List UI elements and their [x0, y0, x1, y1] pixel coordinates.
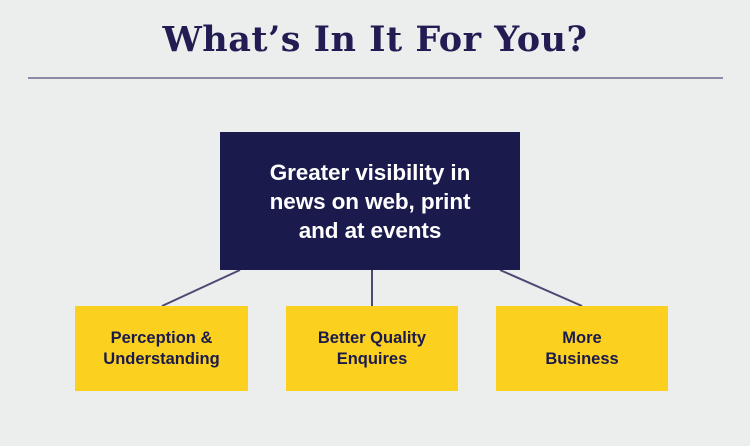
leaf-node-line-1: Perception & — [111, 329, 213, 347]
connector-line-left — [162, 270, 240, 306]
root-node: Greater visibility in news on web, print… — [220, 132, 520, 270]
leaf-node-label: More Business — [504, 328, 660, 370]
leaf-node-line-2: Business — [545, 350, 618, 368]
leaf-node-better-quality-enquires: Better Quality Enquires — [286, 306, 458, 391]
leaf-node-line-2: Understanding — [103, 350, 219, 368]
root-node-line-1: Greater visibility in — [270, 160, 470, 185]
page-title: What’s In It For You? — [0, 17, 750, 63]
leaf-node-perception-understanding: Perception & Understanding — [75, 306, 248, 391]
root-node-line-3: and at events — [299, 218, 442, 243]
leaf-node-label: Perception & Understanding — [83, 328, 240, 370]
slide-canvas: What’s In It For You? Greater visibility… — [0, 0, 750, 446]
leaf-node-label: Better Quality Enquires — [294, 328, 450, 370]
leaf-node-line-2: Enquires — [337, 350, 408, 368]
connector-line-right — [500, 270, 582, 306]
root-node-label: Greater visibility in news on web, print… — [234, 158, 506, 245]
leaf-node-line-1: More — [562, 329, 601, 347]
leaf-node-line-1: Better Quality — [318, 329, 426, 347]
leaf-node-more-business: More Business — [496, 306, 668, 391]
root-node-line-2: news on web, print — [270, 189, 471, 214]
header-divider — [28, 77, 723, 79]
